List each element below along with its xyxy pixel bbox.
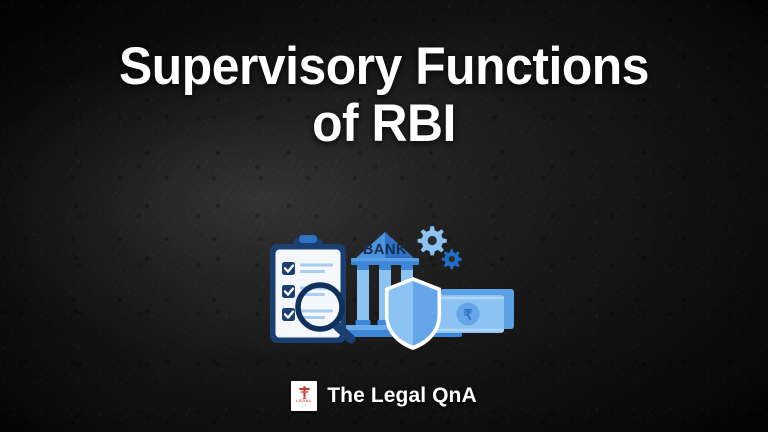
- brand-name: The Legal QnA: [327, 384, 476, 408]
- legal-qna-logo-icon: LEGAL QnA: [291, 381, 317, 411]
- title-line-2: of RBI: [23, 95, 745, 152]
- brand-footer[interactable]: LEGAL QnA The Legal QnA: [0, 381, 768, 411]
- legal-emblem-icon: [298, 385, 311, 399]
- bank-label: BANK: [363, 242, 407, 258]
- logo-wordmark: LEGAL: [296, 400, 312, 403]
- gear-small-icon: [442, 249, 462, 269]
- poster-canvas: Supervisory Functions of RBI: [0, 0, 768, 432]
- gear-large-icon: [418, 226, 447, 255]
- banknotes-icon: ₹: [432, 289, 514, 333]
- shield-icon: [385, 277, 441, 350]
- banking-supervision-illustration: BANK: [258, 222, 518, 367]
- title-line-1: Supervisory Functions: [23, 38, 745, 95]
- logo-subtext: QnA: [302, 405, 307, 407]
- rupee-symbol: ₹: [464, 307, 473, 323]
- page-title: Supervisory Functions of RBI: [0, 38, 768, 152]
